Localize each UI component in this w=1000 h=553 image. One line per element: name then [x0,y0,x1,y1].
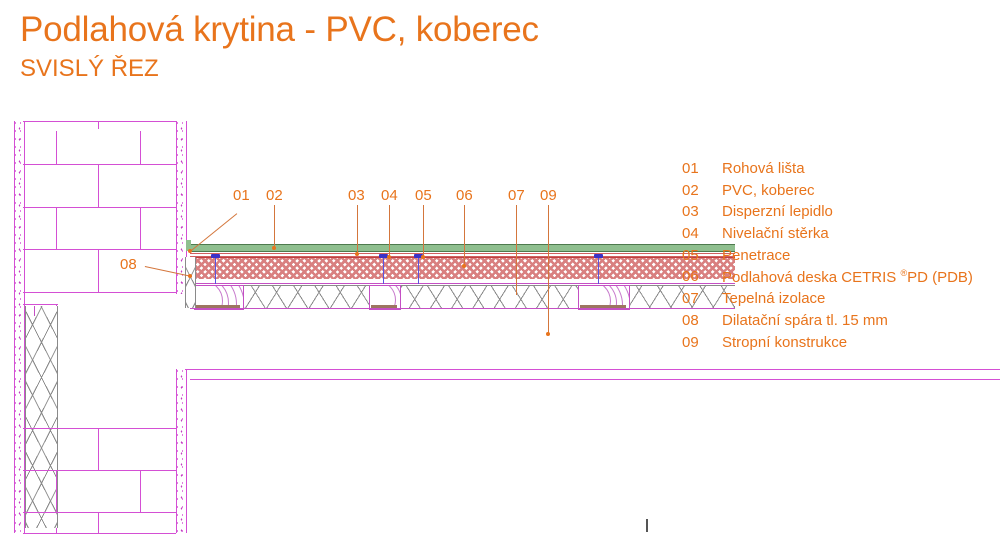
registered-mark: ® [900,268,907,278]
masonry-line [56,207,57,249]
leader-line-07 [516,205,517,295]
legend-label: Tepelná izolace [722,290,825,307]
legend-item: 01 Rohová lišta [682,160,973,182]
masonry-line [56,131,57,164]
callout-09: 09 [540,187,557,204]
floor-bottom-line [190,308,735,309]
insulation-edge [34,306,35,316]
masonry-line [140,470,141,512]
legend-item: 02 PVC, koberec [682,182,973,204]
masonry-line [23,428,176,429]
screw-shank [383,258,384,284]
legend-label: Nivelační stěrka [722,225,829,242]
leader-line-03 [357,205,358,255]
pvc-bottom-line [190,251,735,252]
leader-line-09 [548,205,549,335]
callout-04: 04 [381,187,398,204]
leader-dot-05 [421,255,425,259]
masonry-line [23,470,176,471]
slab-line [190,379,1000,380]
screw-shank [598,258,599,284]
legend-item: 04 Nivelační stěrka [682,225,973,247]
legend-label: Dilatační spára tl. 15 mm [722,312,888,329]
legend-item: 08 Dilatační spára tl. 15 mm [682,312,973,334]
legend-label: Disperzní lepidlo [722,203,833,220]
leader-dot-08 [188,274,192,278]
callout-06: 06 [456,187,473,204]
legend-label: Rohová lišta [722,160,805,177]
masonry-line [23,121,176,122]
masonry-line [56,470,57,512]
leader-line-06 [464,205,465,267]
masonry-line [98,428,99,470]
callout-07: 07 [508,187,525,204]
masonry-line [98,512,99,533]
legend-item: 09 Stropní konstrukce [682,334,973,356]
masonry-line [98,164,99,207]
legend-item: 06 Podlahová deska CETRIS ®PD (PDB) [682,268,973,290]
joist-top-line [190,283,735,284]
legend-number: 05 [682,247,722,264]
legend-item: 07 Tepelná izolace [682,290,973,312]
masonry-line [23,207,176,208]
leader-dot-03 [355,252,359,256]
screw-shank [418,258,419,284]
masonry-line [23,512,176,513]
pvc-top-line [190,244,735,245]
legend-item: 05 Penetrace [682,247,973,269]
masonry-line [140,207,141,249]
leader-line-05 [423,205,424,258]
leader-dot-06 [462,264,466,268]
legend-number: 07 [682,290,722,307]
masonry-line [23,249,176,250]
masonry-line [23,164,176,165]
leader-line-04 [389,205,390,258]
adhesive-layer [190,253,735,254]
thermal-insulation-bay [398,285,580,309]
masonry-line [23,533,176,534]
leader-dot-09 [546,332,550,336]
callout-08: 08 [120,256,137,273]
masonry-line [23,292,176,293]
legend-number: 02 [682,182,722,199]
callout-03: 03 [348,187,365,204]
callout-05: 05 [415,187,432,204]
legend-number: 01 [682,160,722,177]
legend-number: 03 [682,203,722,220]
legend-number: 08 [682,312,722,329]
partition-plaster [176,369,187,533]
legend-label: PVC, koberec [722,182,815,199]
cetris-floor-board [190,257,735,281]
leader-dot-01 [188,249,192,253]
wall-insulation-hatch [25,306,58,528]
legend-number: 09 [682,334,722,351]
leader-line-02 [274,205,275,249]
legend-number: 06 [682,268,722,285]
legend-label: Stropní konstrukce [722,334,847,351]
legend-label: Podlahová deska CETRIS ®PD (PDB) [722,268,973,286]
leader-dot-02 [272,246,276,250]
legend-label: Penetrace [722,247,790,264]
text-cursor [646,519,648,532]
screw-shank [215,258,216,284]
legend-list: 01 Rohová lišta 02 PVC, koberec 03 Dispe… [682,160,973,355]
slab-line [185,369,1000,370]
legend-item: 03 Disperzní lepidlo [682,203,973,225]
callout-01: 01 [233,187,250,204]
masonry-line [98,121,99,129]
masonry-line [98,249,99,292]
leader-dot-04 [387,255,391,259]
callout-02: 02 [266,187,283,204]
legend-number: 04 [682,225,722,242]
dilatation-gap [185,257,196,308]
masonry-line [140,131,141,164]
